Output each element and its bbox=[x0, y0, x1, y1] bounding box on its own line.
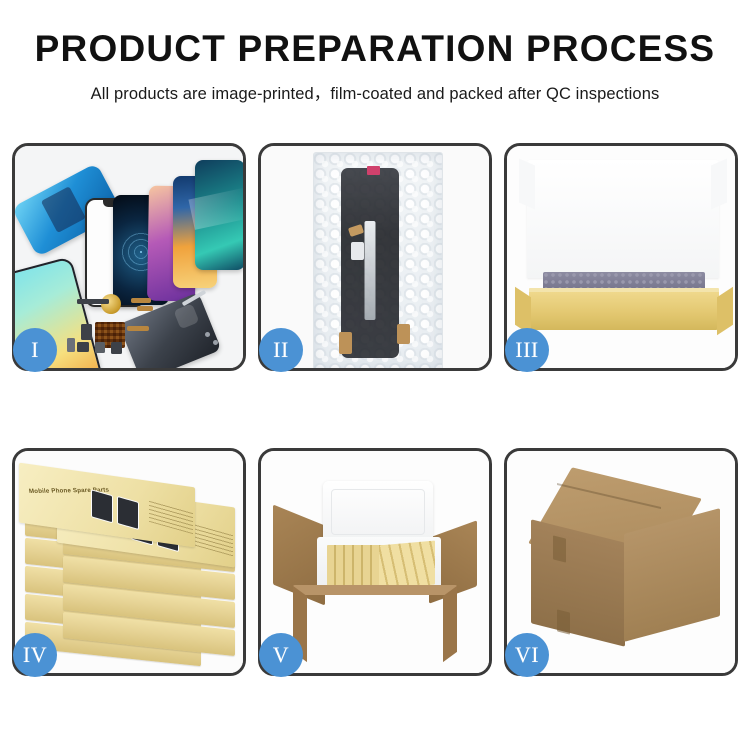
retail-box-spec-lines-left bbox=[149, 500, 193, 534]
flex-connector-bottom-left bbox=[339, 332, 352, 354]
screw-bracket-part bbox=[67, 338, 75, 352]
carton-left-face bbox=[531, 519, 625, 646]
phone-teal-gradient bbox=[195, 160, 243, 270]
process-step-card-4[interactable]: Mobile Phone Spare Parts Mobile Phone Sp… bbox=[12, 448, 246, 676]
flex-cable-part-1 bbox=[131, 298, 151, 303]
process-step-card-6[interactable]: VI bbox=[504, 448, 738, 676]
speaker-part bbox=[77, 342, 89, 352]
process-step-card-1[interactable]: I bbox=[12, 143, 246, 371]
pink-seal-tape bbox=[367, 166, 380, 175]
page-title: PRODUCT PREPARATION PROCESS bbox=[0, 30, 750, 67]
flex-cable-part-2 bbox=[137, 306, 153, 311]
carton-tape-upper bbox=[553, 535, 566, 562]
lcd-screen-assembly bbox=[341, 168, 399, 358]
button-part bbox=[95, 342, 105, 353]
retail-box-spec-lines-right bbox=[189, 522, 233, 556]
antenna-strip-part bbox=[77, 299, 109, 304]
carton-tape-lower bbox=[557, 609, 570, 634]
sim-tray-part bbox=[111, 342, 122, 354]
screw-part-1 bbox=[205, 332, 210, 337]
retail-box-stack: Mobile Phone Spare Parts Mobile Phone Sp… bbox=[19, 479, 243, 665]
process-step-grid: I II III bbox=[12, 143, 738, 676]
process-step-card-3[interactable]: III bbox=[504, 143, 738, 371]
vibration-motor-part bbox=[101, 294, 121, 314]
retail-boxes-inside-foam-angled bbox=[379, 541, 435, 590]
camera-module-part bbox=[81, 324, 92, 340]
step-number-badge-5: V bbox=[259, 633, 303, 677]
product-preparation-infographic: PRODUCT PREPARATION PROCESS All products… bbox=[0, 0, 750, 750]
flex-cable-part-3 bbox=[127, 326, 149, 331]
process-step-card-2[interactable]: II bbox=[258, 143, 492, 371]
white-connector bbox=[351, 242, 364, 260]
page-subtitle: All products are image-printed，film-coat… bbox=[0, 67, 750, 104]
screw-part-2 bbox=[213, 340, 218, 345]
step-number-badge-2: II bbox=[259, 328, 303, 372]
inner-box-open-lid bbox=[527, 160, 719, 278]
flex-connector-bottom-right bbox=[397, 324, 410, 344]
inner-box-front-wall bbox=[529, 292, 719, 330]
retail-box-screen-image-left-2 bbox=[117, 496, 139, 530]
process-step-card-5[interactable]: V bbox=[258, 448, 492, 676]
carton-body bbox=[305, 591, 445, 657]
header: PRODUCT PREPARATION PROCESS All products… bbox=[0, 0, 750, 104]
step-number-badge-6: VI bbox=[505, 633, 549, 677]
step-number-badge-1: I bbox=[13, 328, 57, 372]
foam-box-lid bbox=[323, 481, 433, 543]
step-number-badge-3: III bbox=[505, 328, 549, 372]
step-number-badge-4: IV bbox=[13, 633, 57, 677]
retail-box-screen-image-left-1 bbox=[91, 489, 113, 523]
